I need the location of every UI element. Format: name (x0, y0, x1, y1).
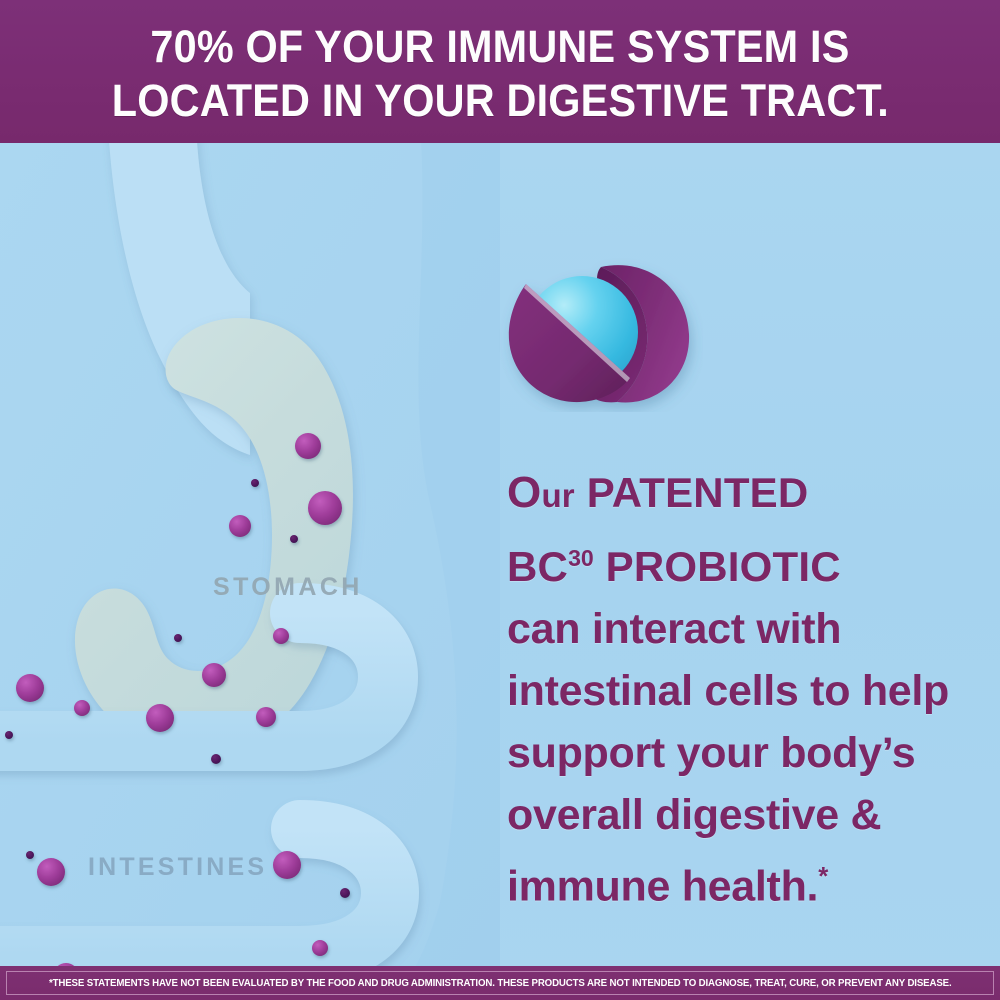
open-probiotic-capsule (497, 252, 703, 412)
probiotic-dot (26, 851, 34, 859)
copy-line-1-cap: O (507, 468, 541, 517)
probiotic-dot (146, 704, 174, 732)
probiotic-dot (229, 515, 251, 537)
digestive-tract-illustration: STOMACH INTESTINES (0, 143, 500, 967)
footer-disclaimer-box: *THESE STATEMENTS HAVE NOT BEEN EVALUATE… (6, 971, 994, 995)
copy-line-1-smallcaps: ur (541, 477, 574, 514)
probiotic-dot (273, 851, 301, 879)
footer-disclaimer-text: *THESE STATEMENTS HAVE NOT BEEN EVALUATE… (49, 978, 952, 989)
copy-line-4: intestinal cells to help (507, 660, 977, 722)
copy-line-5: support your body’s (507, 722, 977, 784)
anatomy-svg (0, 143, 500, 967)
probiotic-dot (251, 479, 259, 487)
copy-line-6: overall digestive & (507, 784, 977, 846)
probiotic-dot (16, 674, 44, 702)
copy-line-7-text: immune health. (507, 862, 818, 910)
banner-headline-line-1: 70% OF YOUR IMMUNE SYSTEM IS (150, 20, 849, 74)
intestines-label: INTESTINES (88, 853, 267, 882)
probiotic-dot (295, 433, 321, 459)
probiotic-dot (340, 888, 350, 898)
footer-disclaimer-bar: *THESE STATEMENTS HAVE NOT BEEN EVALUATE… (0, 966, 1000, 1000)
probiotic-dot (256, 707, 276, 727)
copy-line-3: can interact with (507, 598, 977, 660)
copy-line-2-superscript: 30 (568, 545, 594, 571)
probiotic-infographic-poster: 70% OF YOUR IMMUNE SYSTEM IS LOCATED IN … (0, 0, 1000, 1000)
probiotic-dot (174, 634, 182, 642)
capsule-svg (497, 252, 703, 412)
copy-line-2: BC30 PROBIOTIC (507, 527, 977, 598)
copy-line-2-pre: BC (507, 543, 568, 590)
probiotic-dot (5, 731, 13, 739)
banner-headline-line-2: LOCATED IN YOUR DIGESTIVE TRACT. (111, 74, 888, 128)
probiotic-dot (308, 491, 342, 525)
copy-line-1: Our PATENTED (507, 462, 977, 527)
copy-line-2-main: PROBIOTIC (594, 543, 841, 590)
probiotic-dot (74, 700, 90, 716)
header-banner: 70% OF YOUR IMMUNE SYSTEM IS LOCATED IN … (0, 0, 1000, 143)
copy-line-7: immune health.* (507, 846, 977, 917)
disclaimer-asterisk: * (818, 863, 828, 891)
probiotic-dot (211, 754, 221, 764)
probiotic-dot (202, 663, 226, 687)
probiotic-dot (312, 940, 328, 956)
probiotic-dot (290, 535, 298, 543)
copy-line-1-main: PATENTED (575, 469, 809, 516)
probiotic-dot (273, 628, 289, 644)
stomach-label: STOMACH (213, 573, 363, 602)
probiotic-dot (37, 858, 65, 886)
marketing-copy-block: Our PATENTED BC30 PROBIOTIC can interact… (507, 462, 977, 917)
